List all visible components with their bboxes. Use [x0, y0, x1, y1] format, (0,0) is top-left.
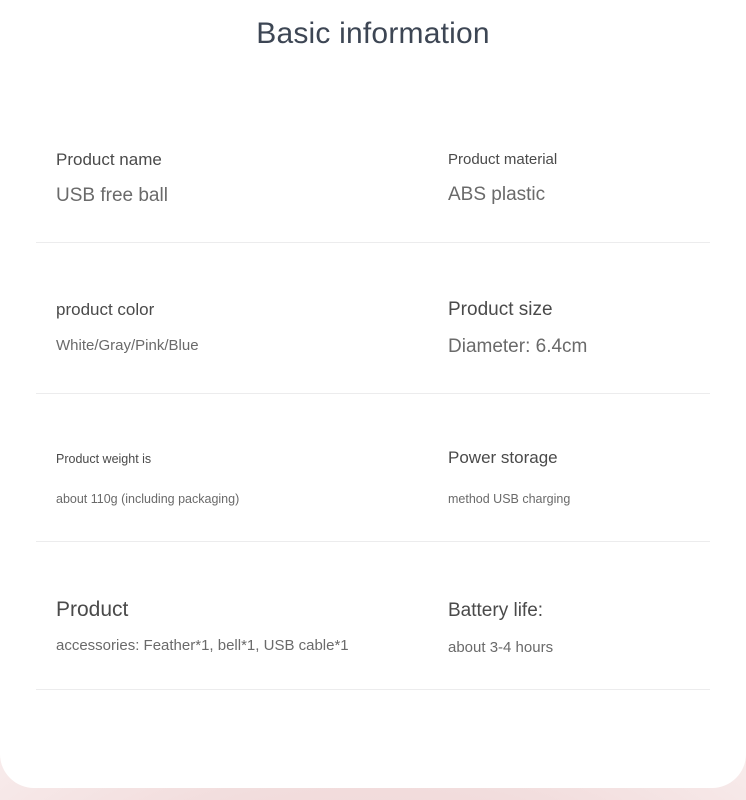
row-divider	[36, 541, 710, 542]
row-divider	[36, 393, 710, 394]
field-label: Product size	[448, 297, 553, 322]
field-value: accessories: Feather*1, bell*1, USB cabl…	[56, 636, 349, 656]
field-label: Product name	[56, 148, 162, 171]
row-divider	[36, 242, 710, 243]
field-label: product color	[56, 298, 154, 321]
field-value: ABS plastic	[448, 182, 545, 207]
field-label: Power storage	[448, 446, 558, 469]
field-label: Product weight is	[56, 450, 151, 468]
spec-content: Basic information Product name USB free …	[0, 0, 746, 788]
field-value: about 110g (including packaging)	[56, 490, 239, 508]
product-spec-page: Basic information Product name USB free …	[0, 0, 746, 800]
row-divider	[36, 689, 710, 690]
field-label: Product	[56, 596, 128, 624]
page-title: Basic information	[0, 14, 746, 54]
field-value: White/Gray/Pink/Blue	[56, 336, 199, 356]
field-label: Battery life:	[448, 598, 543, 623]
field-label: Product material	[448, 150, 557, 170]
field-value: method USB charging	[448, 490, 570, 508]
field-value: about 3-4 hours	[448, 638, 553, 658]
field-value: USB free ball	[56, 183, 168, 208]
field-value: Diameter: 6.4cm	[448, 334, 587, 359]
